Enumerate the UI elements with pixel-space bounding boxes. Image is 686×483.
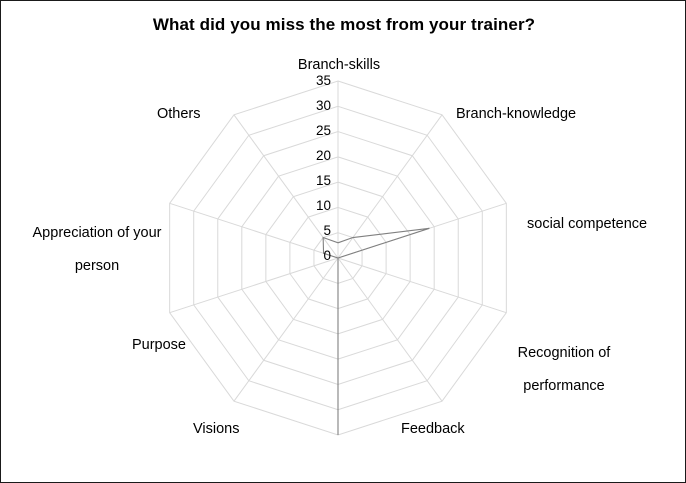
appreciation-line-2: person	[75, 258, 119, 274]
axis-label-appreciation-of-your-person: Appreciation of your person	[17, 208, 177, 275]
tick-label-0: 0	[301, 248, 331, 263]
axis-label-branch-skills: Branch-skills	[289, 57, 389, 74]
tick-label-35: 35	[301, 73, 331, 88]
appreciation-line-1: Appreciation of your	[33, 225, 162, 241]
chart-container: What did you miss the most from your tra…	[0, 0, 686, 483]
tick-label-30: 30	[301, 98, 331, 113]
tick-label-25: 25	[301, 123, 331, 138]
recognition-line-1: Recognition of	[518, 345, 611, 361]
recognition-line-2: performance	[523, 378, 604, 394]
axis-label-feedback: Feedback	[401, 421, 511, 438]
axis-label-visions: Visions	[193, 421, 293, 438]
axis-label-social-competence: social competence	[527, 216, 686, 233]
tick-label-10: 10	[301, 198, 331, 213]
axis-label-branch-knowledge: Branch-knowledge	[456, 106, 616, 123]
axis-label-recognition-of-performance: Recognition of performance	[499, 328, 629, 395]
tick-label-15: 15	[301, 173, 331, 188]
tick-label-5: 5	[301, 223, 331, 238]
tick-label-20: 20	[301, 148, 331, 163]
axis-label-purpose: Purpose	[111, 337, 186, 354]
axis-label-others: Others	[157, 106, 247, 123]
